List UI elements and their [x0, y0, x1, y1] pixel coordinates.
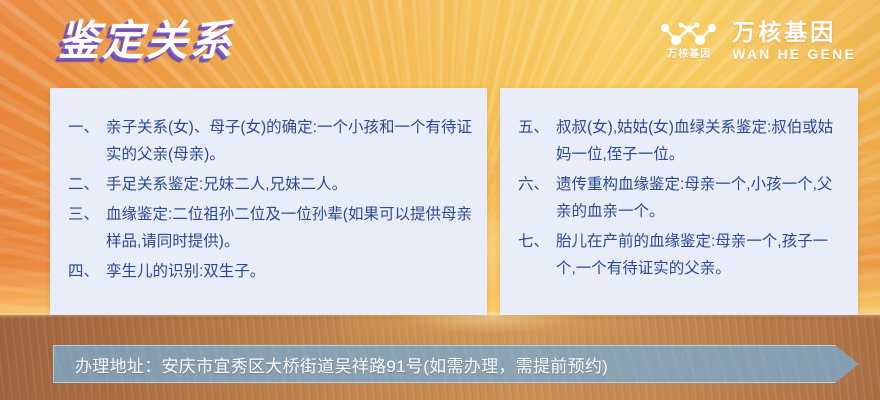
list-item-text: 血缘鉴定:二位祖孙二位及一位孙辈(如果可以提供母亲样品,请同时提供)。	[106, 201, 473, 255]
molecule-network-icon-group: 万核基因	[660, 21, 718, 60]
brand-name-en: WAN HE GENE	[732, 46, 856, 62]
list-item: 四、 孪生儿的识别:双生子。	[68, 258, 473, 285]
brand-wordmark: 万核基因 WAN HE GENE	[732, 19, 856, 62]
service-list-panel-left: 一、 亲子关系(女)、母子(女)的确定:一个小孩和一个有待证实的父亲(母亲)。 …	[50, 88, 487, 315]
list-item: 一、 亲子关系(女)、母子(女)的确定:一个小孩和一个有待证实的父亲(母亲)。	[68, 114, 473, 168]
list-item-number: 七、	[518, 228, 556, 255]
list-item-text: 胎儿在产前的血缘鉴定:母亲一个,孩子一个,一个有待证实的父亲。	[556, 228, 846, 282]
list-item: 三、 血缘鉴定:二位祖孙二位及一位孙辈(如果可以提供母亲样品,请同时提供)。	[68, 201, 473, 255]
brand-name-cn: 万核基因	[732, 19, 856, 45]
service-list-panel-right: 五、 叔叔(女),姑姑(女)血绿关系鉴定:叔伯或姑妈一位,侄子一位。 六、 遗传…	[500, 88, 858, 315]
poster-root: 鉴定关系	[0, 0, 880, 400]
list-item-number: 六、	[518, 171, 556, 198]
panel-right-content: 五、 叔叔(女),姑姑(女)血绿关系鉴定:叔伯或姑妈一位,侄子一位。 六、 遗传…	[500, 88, 858, 282]
list-item-text: 遗传重构血缘鉴定:母亲一个,小孩一个,父亲的血亲一个。	[556, 171, 846, 225]
address-banner: 办理地址：安庆市宜秀区大桥街道吴祥路91号(如需办理，需提前预约)	[53, 345, 859, 383]
list-item: 五、 叔叔(女),姑姑(女)血绿关系鉴定:叔伯或姑妈一位,侄子一位。	[518, 114, 846, 168]
list-item: 二、 手足关系鉴定:兄妹二人,兄妹二人。	[68, 171, 473, 198]
list-item-number: 三、	[68, 201, 106, 228]
page-title: 鉴定关系	[58, 14, 234, 68]
panel-left-content: 一、 亲子关系(女)、母子(女)的确定:一个小孩和一个有待证实的父亲(母亲)。 …	[50, 88, 487, 285]
list-item-number: 二、	[68, 171, 106, 198]
list-item-text: 亲子关系(女)、母子(女)的确定:一个小孩和一个有待证实的父亲(母亲)。	[106, 114, 473, 168]
logo-caption: 万核基因	[667, 49, 711, 60]
list-item-text: 孪生儿的识别:双生子。	[106, 258, 473, 285]
list-item-number: 四、	[68, 258, 106, 285]
brand-logo: 万核基因 万核基因 WAN HE GENE	[660, 14, 856, 66]
list-item-text: 手足关系鉴定:兄妹二人,兄妹二人。	[106, 171, 473, 198]
list-item: 七、 胎儿在产前的血缘鉴定:母亲一个,孩子一个,一个有待证实的父亲。	[518, 228, 846, 282]
address-text: 办理地址：安庆市宜秀区大桥街道吴祥路91号(如需办理，需提前预约)	[75, 345, 608, 383]
molecule-network-icon	[660, 21, 718, 47]
floor-reflection-glow	[340, 312, 640, 346]
list-item-number: 五、	[518, 114, 556, 141]
list-item-number: 一、	[68, 114, 106, 141]
list-item: 六、 遗传重构血缘鉴定:母亲一个,小孩一个,父亲的血亲一个。	[518, 171, 846, 225]
list-item-text: 叔叔(女),姑姑(女)血绿关系鉴定:叔伯或姑妈一位,侄子一位。	[556, 114, 846, 168]
